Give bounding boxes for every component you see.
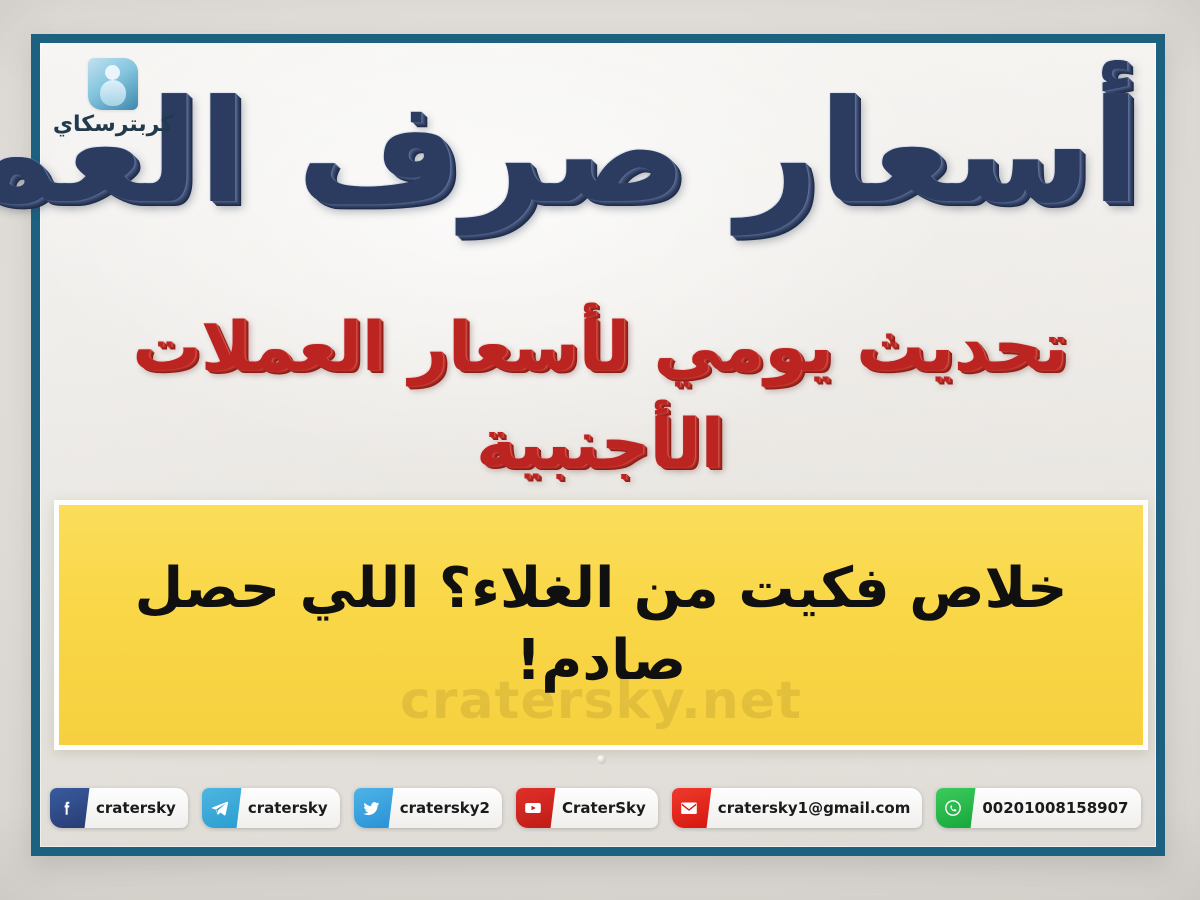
telegram-icon — [202, 788, 241, 828]
highlight-banner-text: خلاص فكيت من الغلاء؟ اللي حصل صادم! — [59, 553, 1143, 696]
social-badge-gmail[interactable]: cratersky1@gmail.com — [672, 788, 923, 828]
social-handle-telegram: cratersky — [239, 799, 340, 817]
cratersky-bird-logo-icon — [88, 58, 138, 110]
social-handle-youtube: CraterSky — [553, 799, 658, 817]
social-handle-twitter: cratersky2 — [391, 799, 502, 817]
subtitle-line-1: تحديث يومي لأسعار العملات الأجنبية — [132, 308, 1067, 484]
poster-canvas: كربترسكاي أسعار صرف العملات تحديث يومي ل… — [0, 0, 1200, 900]
facebook-icon — [50, 788, 89, 828]
social-handle-gmail: cratersky1@gmail.com — [709, 799, 923, 817]
page-title: أسعار صرف العملات — [60, 62, 1140, 244]
social-badge-whatsapp[interactable]: 00201008158907 — [936, 788, 1140, 828]
social-badge-facebook[interactable]: cratersky — [50, 788, 188, 828]
brand-logo-label: كربترسكاي — [38, 112, 188, 137]
youtube-icon — [516, 788, 555, 828]
highlight-banner: خلاص فكيت من الغلاء؟ اللي حصل صادم! crat… — [54, 500, 1148, 750]
social-badge-youtube[interactable]: CraterSky — [516, 788, 658, 828]
board-bolt — [597, 755, 606, 764]
brand-logo: كربترسكاي — [38, 58, 188, 137]
social-badge-twitter[interactable]: cratersky2 — [354, 788, 502, 828]
social-handle-facebook: cratersky — [87, 799, 188, 817]
social-media-bar: cratersky cratersky cratersky2 CraterSky — [50, 786, 1158, 830]
whatsapp-icon — [936, 788, 975, 828]
twitter-icon — [354, 788, 393, 828]
gmail-icon — [672, 788, 711, 828]
social-handle-whatsapp: 00201008158907 — [973, 799, 1140, 817]
social-badge-telegram[interactable]: cratersky — [202, 788, 340, 828]
